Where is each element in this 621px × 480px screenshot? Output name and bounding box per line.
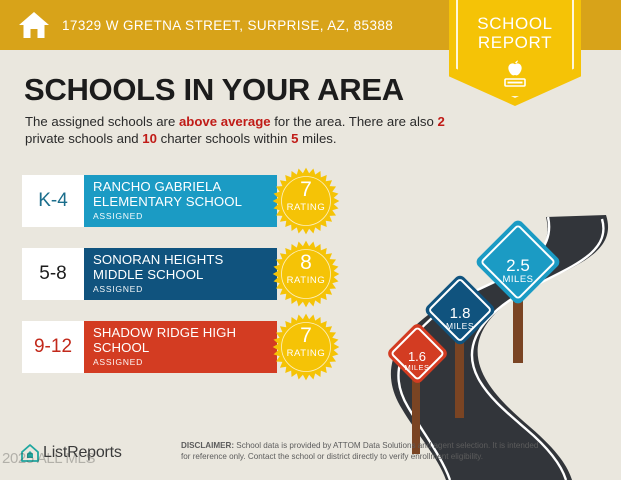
school-info: SONORAN HEIGHTS MIDDLE SCHOOL ASSIGNED — [84, 248, 277, 300]
school-info: SHADOW RIDGE HIGH SCHOOL ASSIGNED — [84, 321, 277, 373]
school-name-line1: SONORAN HEIGHTS — [93, 253, 277, 268]
school-row[interactable]: 5-8 SONORAN HEIGHTS MIDDLE SCHOOL ASSIGN… — [22, 248, 277, 300]
school-row[interactable]: K-4 RANCHO GABRIELA ELEMENTARY SCHOOL AS… — [22, 175, 277, 227]
disclaimer-label: DISCLAIMER: — [181, 441, 234, 450]
summary-part-2: for the area. There are also — [271, 114, 438, 129]
school-row[interactable]: 9-12 SHADOW RIDGE HIGH SCHOOL ASSIGNED — [22, 321, 277, 373]
rating-value: 7 — [272, 179, 340, 201]
school-name-line1: RANCHO GABRIELA — [93, 180, 277, 195]
summary-part-4: charter schools within — [157, 131, 291, 146]
summary-text: The assigned schools are above average f… — [25, 113, 445, 147]
school-status-badge: ASSIGNED — [93, 357, 277, 367]
grade-range: K-4 — [22, 175, 84, 227]
page-title: SCHOOLS IN YOUR AREA — [24, 72, 404, 108]
apple-on-book-icon — [497, 57, 533, 93]
sign-diamond — [385, 321, 449, 385]
school-name-line2: SCHOOL — [93, 341, 277, 356]
school-name-line1: SHADOW RIDGE HIGH — [93, 326, 277, 341]
badge-title-line2: REPORT — [449, 33, 581, 52]
disclaimer-text: DISCLAIMER: School data is provided by A… — [181, 441, 541, 462]
school-report-infographic: 17329 W GRETNA STREET, SURPRISE, AZ, 853… — [0, 0, 621, 480]
rating-label: RATING — [272, 202, 340, 213]
school-name-line2: ELEMENTARY SCHOOL — [93, 195, 277, 210]
disclaimer-body: School data is provided by ATTOM Data So… — [181, 441, 538, 461]
summary-part-1: The assigned schools are — [25, 114, 179, 129]
rating-badge: 7 RATING — [272, 313, 340, 381]
rating-value: 7 — [272, 325, 340, 347]
sign-face: 1.6 MILES — [386, 331, 448, 393]
summary-highlight-rating: above average — [179, 114, 271, 129]
summary-highlight-charter-count: 10 — [142, 131, 157, 146]
property-address: 17329 W GRETNA STREET, SURPRISE, AZ, 853… — [62, 18, 393, 33]
grade-range: 9-12 — [22, 321, 84, 373]
school-status-badge: ASSIGNED — [93, 284, 277, 294]
home-icon — [18, 10, 50, 40]
summary-highlight-private-count: 2 — [438, 114, 445, 129]
watermark: 2025 ALL MLS — [2, 450, 95, 467]
rating-label: RATING — [272, 348, 340, 359]
rating-value: 8 — [272, 252, 340, 274]
grade-range: 5-8 — [22, 248, 84, 300]
rating-badge: 7 RATING — [272, 167, 340, 235]
school-name-line2: MIDDLE SCHOOL — [93, 268, 277, 283]
rating-label: RATING — [272, 275, 340, 286]
summary-part-3: private schools and — [25, 131, 142, 146]
sign-inner-outline — [389, 325, 444, 380]
distance-sign-1.6: 1.6 MILES — [386, 322, 448, 393]
rating-badge: 8 RATING — [272, 240, 340, 308]
badge-title-line1: SCHOOL — [449, 14, 581, 33]
badge-title: SCHOOL REPORT — [449, 14, 581, 52]
summary-part-5: miles. — [298, 131, 336, 146]
school-status-badge: ASSIGNED — [93, 211, 277, 221]
school-info: RANCHO GABRIELA ELEMENTARY SCHOOL ASSIGN… — [84, 175, 277, 227]
